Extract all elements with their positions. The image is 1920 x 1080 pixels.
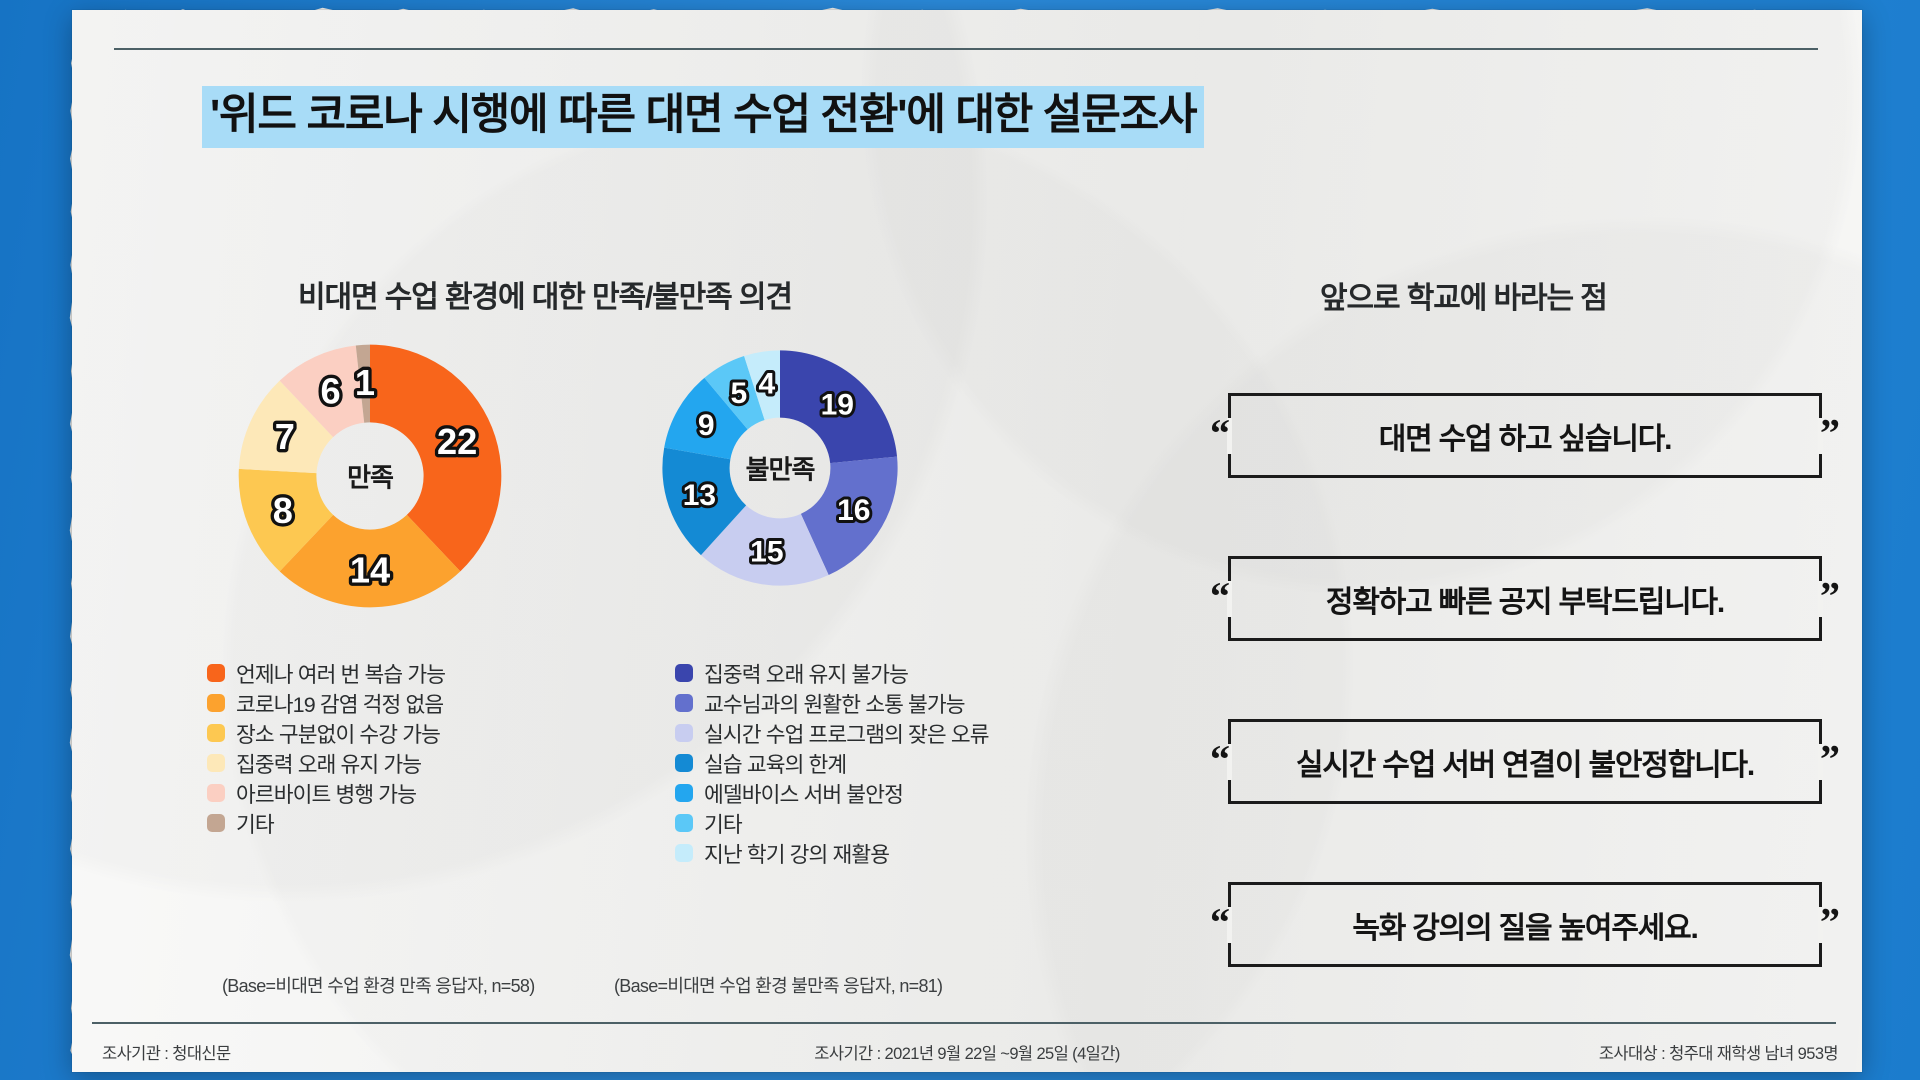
donut-slice-value: 5: [730, 377, 747, 410]
quote-open-mark-icon: “: [1210, 413, 1230, 453]
donut-slice-value: 7: [275, 416, 295, 457]
quote-box: “실시간 수업 서버 연결이 불안정합니다.”: [1194, 719, 1856, 804]
legend-item: 지난 학기 강의 재활용: [675, 838, 989, 868]
legend-item-label: 기타: [236, 808, 274, 839]
legend-item: 집중력 오래 유지 가능: [207, 748, 445, 778]
legend-item: 교수님과의 원활한 소통 불가능: [675, 688, 989, 718]
legend-color-swatch: [207, 784, 225, 802]
legend-color-swatch: [675, 694, 693, 712]
footer-period: 조사기간 : 2021년 9월 22일 ~9월 25일 (4일간): [814, 1040, 1119, 1064]
quote-close-mark-icon: ”: [1820, 413, 1840, 453]
legend-item: 실습 교육의 한계: [675, 748, 989, 778]
footer-organization: 조사기관 : 청대신문: [102, 1040, 231, 1064]
legend-item-label: 언제나 여러 번 복습 가능: [236, 658, 445, 689]
legend-color-swatch: [207, 694, 225, 712]
quote-close-mark-icon: ”: [1820, 902, 1840, 942]
legend-item-label: 집중력 오래 유지 불가능: [704, 658, 908, 689]
legend-color-swatch: [675, 724, 693, 742]
donut-slice-value: 14: [350, 549, 390, 590]
bottom-divider-rule: [92, 1022, 1836, 1024]
footer-target: 조사대상 : 청주대 재학생 남녀 953명: [1599, 1040, 1838, 1064]
donut-chart-satisfied: 22148761 만족: [236, 342, 504, 610]
legend-item: 코로나19 감염 걱정 없음: [207, 688, 445, 718]
legend-color-swatch: [675, 784, 693, 802]
legend-item-label: 집중력 오래 유지 가능: [236, 748, 421, 779]
quote-text: 녹화 강의의 질을 높여주세요.: [1352, 903, 1697, 947]
donut-slice-value: 6: [321, 370, 341, 411]
legend-color-swatch: [675, 664, 693, 682]
donut-chart-satisfied-svg: 22148761: [236, 342, 504, 610]
quote-box: “대면 수업 하고 싶습니다.”: [1194, 393, 1856, 478]
donut-chart-dissatisfied: 19161513954 불만족: [660, 348, 900, 588]
quote-text: 정확하고 빠른 공지 부탁드립니다.: [1326, 577, 1724, 621]
legend-color-swatch: [675, 754, 693, 772]
section-header-left: 비대면 수업 환경에 대한 만족/불만족 의견: [298, 272, 792, 316]
legend-item: 실시간 수업 프로그램의 잦은 오류: [675, 718, 989, 748]
donut-slice-value: 1: [355, 362, 375, 403]
legend-color-swatch: [207, 754, 225, 772]
top-divider-rule: [114, 48, 1818, 50]
legend-item: 장소 구분없이 수강 가능: [207, 718, 445, 748]
legend-item: 언제나 여러 번 복습 가능: [207, 658, 445, 688]
legend-item-label: 장소 구분없이 수강 가능: [236, 718, 440, 749]
quote-box: “정확하고 빠른 공지 부탁드립니다.”: [1194, 556, 1856, 641]
legend-item: 에델바이스 서버 불안정: [675, 778, 989, 808]
legend-item-label: 교수님과의 원활한 소통 불가능: [704, 688, 965, 719]
quote-text: 대면 수업 하고 싶습니다.: [1379, 414, 1672, 458]
legend-item-label: 아르바이트 병행 가능: [236, 778, 416, 809]
quote-open-mark-icon: “: [1210, 902, 1230, 942]
quote-box: “녹화 강의의 질을 높여주세요.”: [1194, 882, 1856, 967]
legend-dissatisfied: 집중력 오래 유지 불가능교수님과의 원활한 소통 불가능실시간 수업 프로그램…: [675, 658, 989, 868]
legend-item: 기타: [207, 808, 445, 838]
donut-chart-dissatisfied-svg: 19161513954: [660, 348, 900, 588]
legend-item: 아르바이트 병행 가능: [207, 778, 445, 808]
legend-item-label: 에델바이스 서버 불안정: [704, 778, 903, 809]
page-title-text: '위드 코로나 시행에 따른 대면 수업 전환'에 대한 설문조사: [202, 86, 1204, 147]
footer: 조사기관 : 청대신문 조사기간 : 2021년 9월 22일 ~9월 25일 …: [72, 1040, 1862, 1070]
legend-satisfied: 언제나 여러 번 복습 가능코로나19 감염 걱정 없음장소 구분없이 수강 가…: [207, 658, 445, 838]
donut-slice-value: 4: [758, 367, 775, 400]
legend-item-label: 실시간 수업 프로그램의 잦은 오류: [704, 718, 989, 749]
legend-item: 집중력 오래 유지 불가능: [675, 658, 989, 688]
section-header-right: 앞으로 학교에 바라는 점: [1320, 273, 1607, 317]
base-note-dissatisfied: (Base=비대면 수업 환경 불만족 응답자, n=81): [614, 972, 942, 998]
legend-color-swatch: [675, 814, 693, 832]
base-note-satisfied: (Base=비대면 수업 환경 만족 응답자, n=58): [222, 972, 535, 998]
quote-open-mark-icon: “: [1210, 576, 1230, 616]
quote-list: “대면 수업 하고 싶습니다.”“정확하고 빠른 공지 부탁드립니다.”“실시간…: [1194, 393, 1856, 967]
donut-slice-value: 9: [698, 409, 715, 442]
legend-item-label: 지난 학기 강의 재활용: [704, 838, 889, 869]
legend-color-swatch: [675, 844, 693, 862]
quote-open-mark-icon: “: [1210, 739, 1230, 779]
donut-slice-value: 22: [437, 421, 477, 462]
legend-color-swatch: [207, 814, 225, 832]
quote-text: 실시간 수업 서버 연결이 불안정합니다.: [1296, 740, 1754, 784]
legend-color-swatch: [207, 724, 225, 742]
legend-color-swatch: [207, 664, 225, 682]
donut-slice-value: 16: [837, 494, 870, 527]
donut-slice-value: 19: [821, 388, 854, 421]
donut-slice-value: 15: [750, 536, 783, 569]
legend-item-label: 실습 교육의 한계: [704, 748, 846, 779]
quote-close-mark-icon: ”: [1820, 576, 1840, 616]
infographic-paper-sheet: '위드 코로나 시행에 따른 대면 수업 전환'에 대한 설문조사 비대면 수업…: [72, 10, 1862, 1072]
page-title: '위드 코로나 시행에 따른 대면 수업 전환'에 대한 설문조사: [202, 86, 1204, 148]
donut-slice-value: 8: [273, 490, 293, 531]
legend-item-label: 코로나19 감염 걱정 없음: [236, 688, 443, 719]
quote-close-mark-icon: ”: [1820, 739, 1840, 779]
legend-item-label: 기타: [704, 808, 742, 839]
donut-slice-value: 13: [683, 479, 716, 512]
legend-item: 기타: [675, 808, 989, 838]
